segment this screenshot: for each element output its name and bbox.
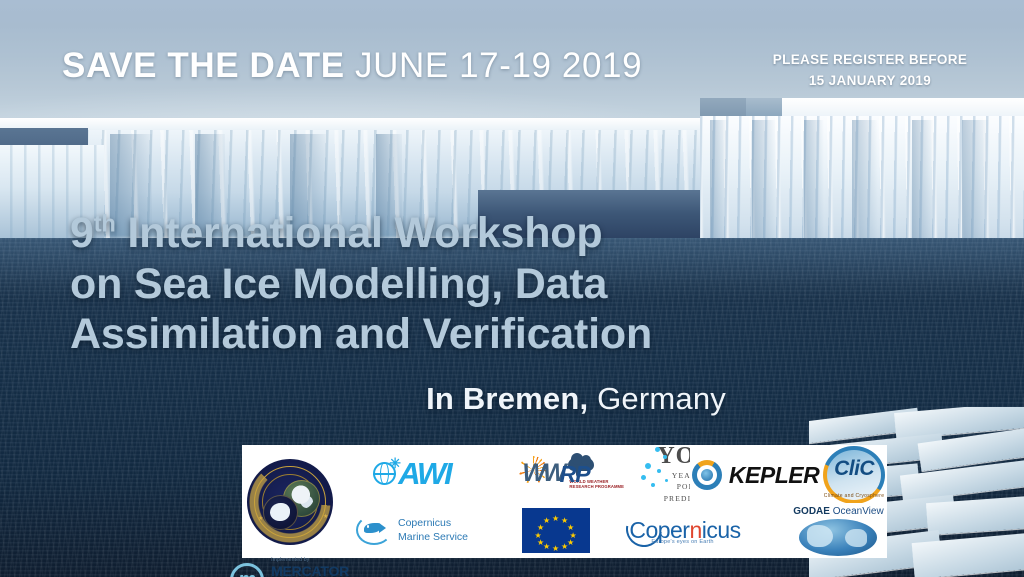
title-line-1: 9th International Workshop (70, 208, 652, 259)
sponsor-logo-iicwg: ★ ★ (242, 445, 338, 558)
copernicus-tagline: Europe's eyes on Earth (651, 539, 713, 545)
save-the-date-label: SAVE THE DATE (62, 46, 345, 85)
copernicus-marine-wordmark: Copernicus Marine Service (398, 516, 468, 544)
eu-flag-icon: ★ ★ ★ ★ ★ ★ ★ ★ ★ ★ ★ ★ (522, 508, 590, 553)
event-dates: JUNE 17-19 2019 (355, 46, 642, 85)
clic-wordmark: CliC (823, 457, 885, 481)
sponsor-logo-copernicus: Copernicus Europe's eyes on Earth (626, 502, 744, 558)
event-location: In Bremen, Germany (0, 381, 726, 417)
seal-star-icon: ★ (258, 517, 263, 522)
kepler-wordmark: KEPLER (729, 462, 819, 489)
sponsor-logo-copernicus-marine-service: Copernicus Marine Service (338, 502, 486, 558)
sponsor-logo-godae-oceanview: GODAE OceanView (790, 503, 887, 558)
awi-globe-icon: ✳ (373, 462, 396, 485)
iicwg-seal-icon: ★ ★ (247, 459, 333, 545)
mercator-m-icon: m (230, 563, 264, 577)
eu-stars: ★ ★ ★ ★ ★ ★ ★ ★ ★ ★ ★ ★ (522, 508, 590, 553)
mercator-wordmark: Implemented by MERCATOR OCEAN INTERNATIO… (271, 558, 350, 577)
godae-logo: GODAE OceanView (793, 506, 883, 556)
title-ordinal-number: 9 (70, 209, 94, 257)
copernicus-swoosh-icon (619, 503, 669, 553)
sponsor-logo-eu-flag: ★ ★ ★ ★ ★ ★ ★ ★ ★ ★ ★ ★ (486, 502, 626, 558)
location-city: In Bremen, (426, 381, 588, 416)
mercator-ocean-logo: m Implemented by MERCATOR OCEAN INTERNAT… (230, 558, 350, 577)
title-line-3: Assimilation and Verification (70, 309, 652, 360)
sponsor-logo-mercator-ocean: m Implemented by MERCATOR OCEAN INTERNAT… (242, 558, 338, 577)
wwrp-wordmark-ww: WW (522, 459, 563, 488)
cms-line1: Copernicus (398, 516, 468, 530)
right-cliff-notch (746, 98, 782, 118)
save-the-date-line: SAVE THE DATE JUNE 17-19 2019 (62, 46, 642, 86)
registration-deadline-notice: PLEASE REGISTER BEFORE 15 JANUARY 2019 (740, 50, 1000, 92)
cms-line2: Marine Service (398, 530, 468, 544)
sponsor-row-kepler-clic: KEPLER CliC Climate and Cryosphere (690, 447, 887, 503)
title-line-1-rest: International Workshop (116, 209, 603, 257)
godae-bold: GODAE (793, 506, 830, 517)
clic-subtitle: Climate and Cryosphere (823, 493, 885, 499)
godae-globe-icon (799, 519, 877, 556)
wwrp-wordmark-rp: RP (560, 461, 590, 488)
awi-asterisk-icon: ✳ (389, 456, 401, 470)
snow-dots-icon (639, 459, 679, 493)
godae-wordmark: GODAE OceanView (793, 506, 883, 517)
seal-star-icon: ★ (323, 515, 328, 520)
mercator-line1: MERCATOR (271, 564, 350, 577)
sponsor-logo-awi: ✳ AWI (338, 445, 486, 502)
godae-light: OceanView (830, 506, 884, 517)
copernicus-logo: Copernicus Europe's eyes on Earth (629, 517, 740, 544)
title-line-2: on Sea Ice Modelling, Data (70, 259, 652, 310)
awi-wordmark: AWI (398, 456, 451, 492)
fish-icon (356, 515, 392, 545)
copernicus-marine-logo: Copernicus Marine Service (356, 515, 468, 545)
awi-logo: ✳ AWI (373, 456, 451, 492)
poster-canvas: SAVE THE DATE JUNE 17-19 2019 PLEASE REG… (0, 0, 1024, 577)
kepler-mark-icon (692, 460, 722, 490)
sponsor-logo-clic: CliC Climate and Cryosphere (823, 446, 885, 504)
sponsor-logo-kepler: KEPLER (692, 460, 819, 490)
page-title: 9th International Workshop on Sea Ice Mo… (70, 208, 652, 360)
wwrp-logo: WW RP WORLD WEATHER RESEARCH PROGRAMME (522, 459, 589, 488)
location-country: Germany (588, 381, 726, 416)
title-ordinal-suffix: th (94, 212, 116, 238)
register-before-line2: 15 JANUARY 2019 (740, 71, 1000, 92)
register-before-line1: PLEASE REGISTER BEFORE (740, 50, 1000, 71)
sponsor-logo-wwrp: WW RP WORLD WEATHER RESEARCH PROGRAMME (486, 445, 626, 502)
antarctic-globe-icon (263, 495, 298, 530)
